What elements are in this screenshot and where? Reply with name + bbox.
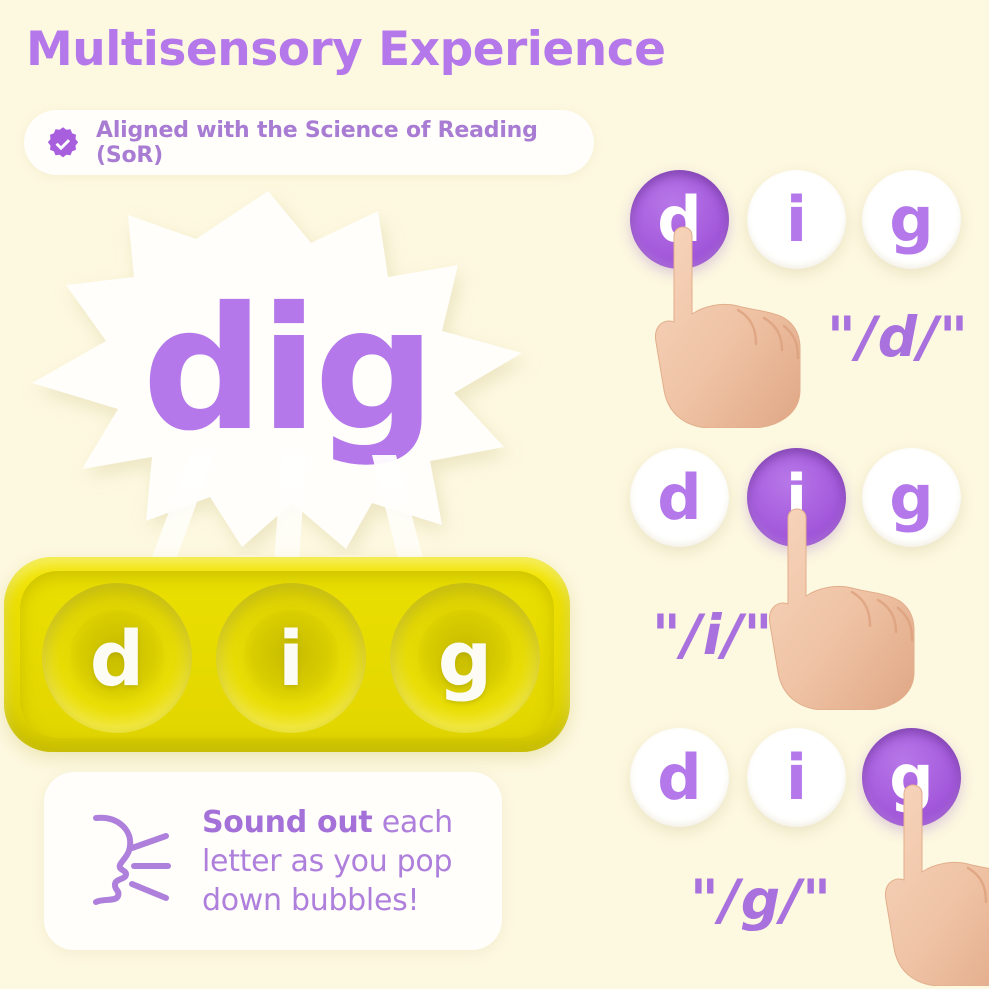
popit-bubble-i[interactable]: i — [216, 583, 366, 733]
letter-glyph: g — [889, 183, 933, 256]
popit-bubble-letter: i — [216, 583, 366, 733]
letter-circle-d[interactable]: d — [630, 448, 729, 547]
instruction-card: Sound out each letter as you pop down bu… — [44, 772, 502, 950]
phoneme-label-i: "/i/" — [652, 603, 773, 667]
letter-row-d: d i g "/d/" — [612, 160, 989, 430]
letter-glyph: i — [786, 741, 807, 814]
popit-toy-tray[interactable]: d i g — [4, 557, 570, 752]
letter-glyph: d — [657, 461, 701, 534]
popit-inner-surface: d i g — [20, 571, 554, 738]
page-title: Multisensory Experience — [26, 22, 665, 77]
phoneme-label-g: "/g/" — [690, 868, 832, 932]
popit-bubble-g[interactable]: g — [390, 583, 540, 733]
pointing-hand-icon — [864, 776, 989, 986]
letter-row-g: d i g "/g/" — [612, 718, 989, 988]
science-of-reading-badge: Aligned with the Science of Reading (SoR… — [24, 110, 594, 175]
instruction-text: Sound out each letter as you pop down bu… — [202, 803, 502, 920]
letter-circle-d[interactable]: d — [630, 728, 729, 827]
popit-bubble-letter: g — [390, 583, 540, 733]
badge-label: Aligned with the Science of Reading (SoR… — [96, 118, 594, 168]
popit-bubble-letter: d — [42, 583, 192, 733]
letter-circle-g[interactable]: g — [862, 170, 961, 269]
letter-row-i: d i g "/i/" — [612, 438, 989, 708]
letter-circle-i[interactable]: i — [747, 728, 846, 827]
letter-glyph: d — [657, 741, 701, 814]
pointing-hand-icon — [748, 500, 983, 710]
popit-bubble-d[interactable]: d — [42, 583, 192, 733]
phoneme-label-d: "/d/" — [827, 305, 969, 369]
poster-root: Multisensory Experience Aligned with the… — [0, 0, 989, 989]
verified-check-icon — [46, 126, 80, 160]
speaking-head-icon — [70, 802, 188, 920]
instruction-bold: Sound out — [202, 805, 372, 840]
